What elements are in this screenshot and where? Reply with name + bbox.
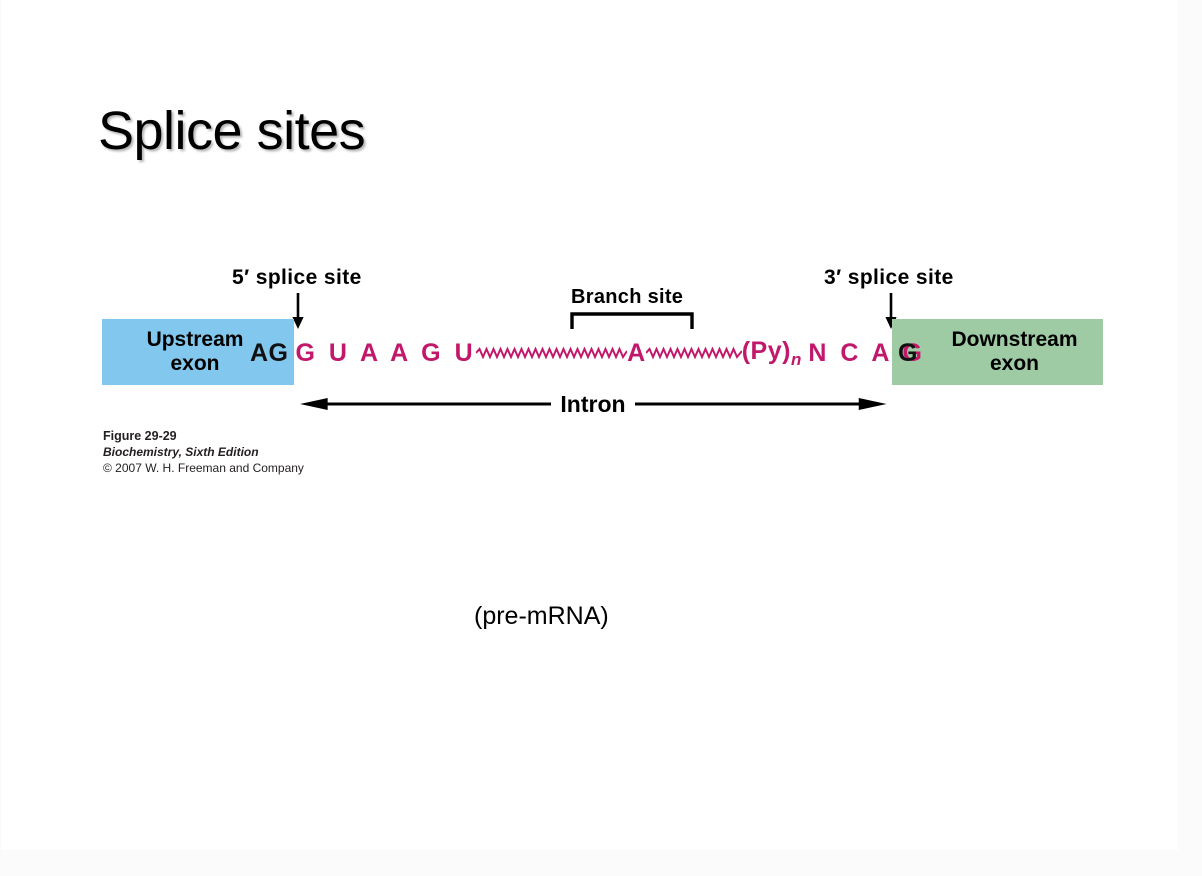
downstream-exon-line2: exon [990, 352, 1039, 375]
caption-book-title: Biochemistry, Sixth Edition [103, 445, 304, 461]
polypyrimidine-subscript: n [791, 350, 801, 369]
sequence-branch-point-a: A [627, 339, 646, 368]
pre-mrna-sequence-row: AG G U A A G U A (Py)n N C A G [250, 336, 925, 370]
sequence-polypyrimidine-tract: (Py)n [742, 337, 802, 370]
polypyrimidine-text: (Py) [742, 337, 791, 365]
sequence-upstream-exon-end: AG [250, 339, 289, 368]
caption-figure-number: Figure 29-29 [103, 428, 304, 445]
intron-squiggle-right-icon [646, 346, 742, 360]
intron-squiggle-left-icon [476, 346, 627, 360]
label-5-prime-splice-site: 5′ splice site [232, 266, 362, 290]
label-intron: Intron [551, 391, 634, 418]
branch-site-bracket-icon [570, 312, 694, 329]
arrow-right-intron-icon [635, 393, 886, 415]
upstream-exon-line1: Upstream [147, 328, 244, 351]
sequence-downstream-exon-start: G [898, 339, 918, 368]
arrow-left-intron-icon [300, 393, 551, 415]
figure-caption: Figure 29-29 Biochemistry, Sixth Edition… [103, 428, 304, 477]
sequence-5-prime-consensus: G U A A G U [296, 339, 477, 368]
intron-span-indicator: Intron [300, 389, 886, 419]
page-title: Splice sites [98, 100, 365, 162]
label-branch-site: Branch site [571, 286, 683, 309]
downstream-exon-line1: Downstream [951, 328, 1077, 351]
label-3-prime-splice-site: 3′ splice site [824, 266, 954, 290]
caption-copyright: © 2007 W. H. Freeman and Company [103, 461, 304, 477]
sequence-downstream-exon-start-wrap: G [898, 336, 918, 370]
upstream-exon-line2: exon [170, 352, 219, 375]
label-pre-mrna: (pre-mRNA) [474, 602, 609, 631]
slide-canvas: Splice sites 5′ splice site 3′ splice si… [0, 0, 1202, 876]
